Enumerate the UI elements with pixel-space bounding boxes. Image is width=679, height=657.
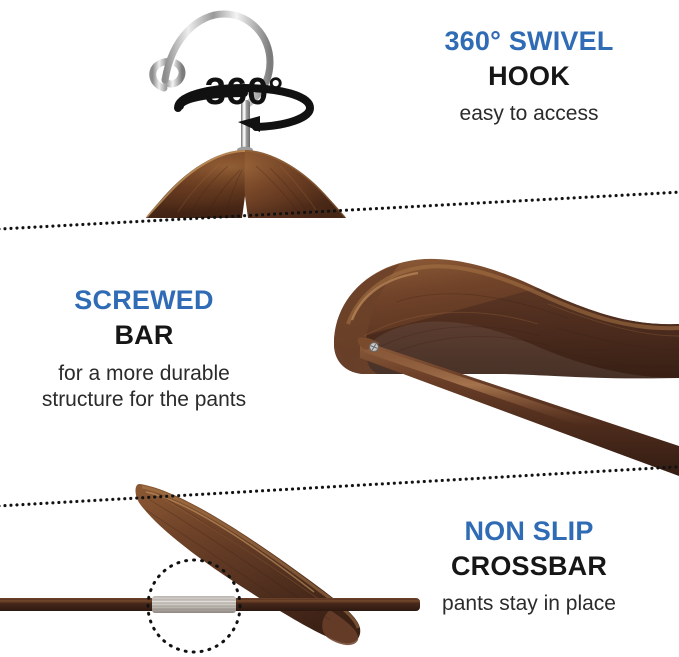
swivel-collar [237,147,253,154]
swivel-hook-text-block: 360° SWIVEL HOOK easy to access [385,26,673,126]
screwed-bar-subtitle-line1: for a more durable [0,362,288,387]
divider-bottom [0,464,679,508]
non-slip-title-black: CROSSBAR [385,551,673,583]
hanger-shoulder [334,259,679,378]
screw-slot [371,344,378,350]
hook-highlight [170,20,264,100]
non-slip-crossbar-text-block: NON SLIP CROSSBAR pants stay in place [385,516,673,616]
swivel-hook-title-black: HOOK [385,61,673,93]
swivel-hook-title-blue: 360° SWIVEL [385,26,673,58]
product-infographic: 360° [0,0,679,657]
swivel-hook-photo: 360° [120,0,380,228]
hanger-arm [136,484,361,645]
screwed-bar-title-blue: SCREWED [0,285,288,317]
hook-wire [153,14,270,104]
divider-top [0,189,679,231]
screw-head [370,343,379,352]
hanger-top-wood [146,150,346,218]
screwed-crossbar [357,337,679,476]
screwed-bar-title-black: BAR [0,320,288,352]
screwed-bar-subtitle-line2: structure for the pants [0,388,288,413]
non-slip-crossbar-photo [0,470,420,657]
hook-shaft [241,100,250,152]
crossbar-rod [0,598,420,611]
swivel-hook-subtitle: easy to access [385,102,673,127]
highlight-circle [148,560,240,652]
rotation-callout-360: 360° [178,71,310,132]
callout-360-label: 360° [205,71,284,113]
screwed-bar-photo [300,232,679,504]
non-slip-grip [152,596,236,613]
screwed-bar-text-block: SCREWED BAR for a more durable structure… [0,285,288,413]
non-slip-subtitle: pants stay in place [385,592,673,617]
non-slip-title-blue: NON SLIP [385,516,673,548]
